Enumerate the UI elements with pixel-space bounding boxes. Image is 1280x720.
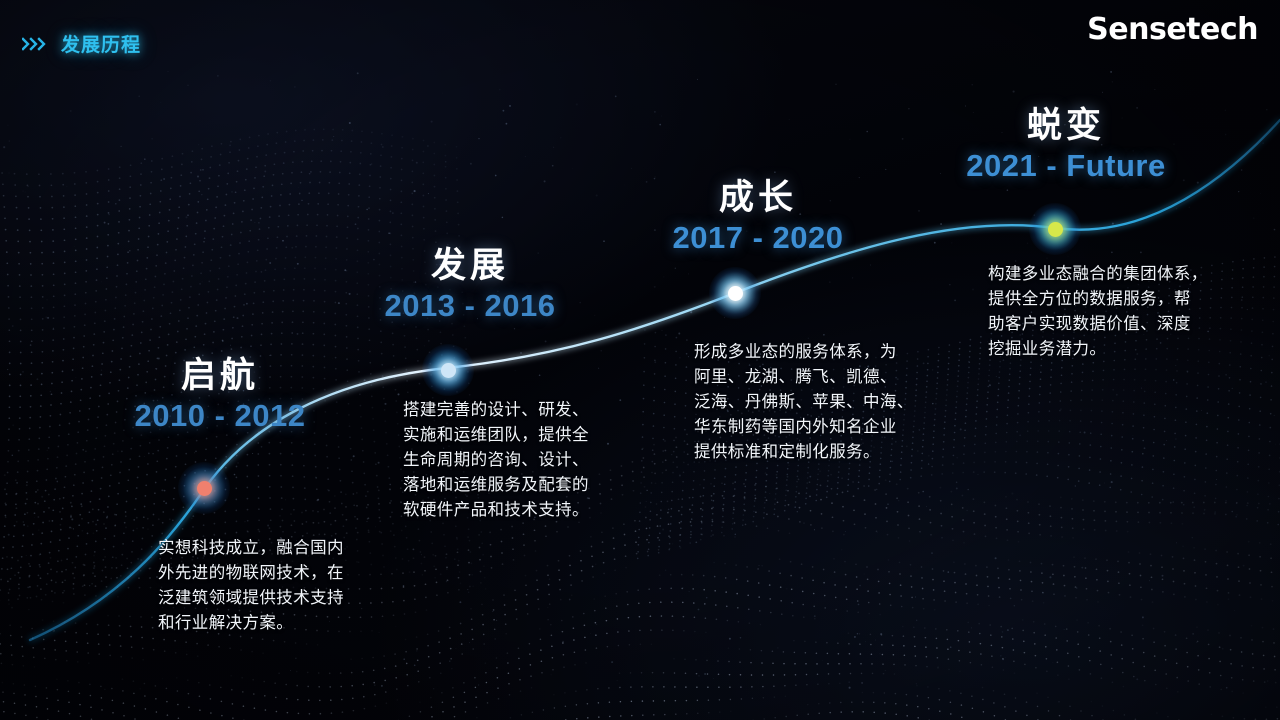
milestone-1-node[interactable] <box>178 462 230 514</box>
header-bar: 发展历程 Sensetech <box>0 0 1280 68</box>
milestone-3-description: 形成多业态的服务体系，为 阿里、龙湖、腾飞、凯德、 泛海、丹佛斯、苹果、中海、 … <box>694 340 974 465</box>
milestone-2-node[interactable] <box>422 344 474 396</box>
milestone-3-heading: 成长 2017 - 2020 <box>640 180 876 256</box>
milestone-3-title: 成长 <box>640 180 876 217</box>
brand-logo: Sensetech <box>1087 12 1258 47</box>
milestone-1-title: 启航 <box>110 358 330 395</box>
milestone-4-description: 构建多业态融合的集团体系， 提供全方位的数据服务，帮 助客户实现数据价值、深度 … <box>988 262 1256 362</box>
milestone-1-description: 实想科技成立，融合国内 外先进的物联网技术，在 泛建筑领域提供技术支持 和行业解… <box>158 536 420 636</box>
milestone-2-title: 发展 <box>352 248 588 285</box>
milestone-4-title: 蜕变 <box>948 108 1184 145</box>
milestone-2-description: 搭建完善的设计、研发、 实施和运维团队，提供全 生命周期的咨询、设计、 落地和运… <box>403 398 655 523</box>
page-title: 发展历程 <box>61 30 141 57</box>
milestone-4-year: 2021 - Future <box>948 147 1184 184</box>
milestone-1-year: 2010 - 2012 <box>110 397 330 434</box>
milestone-1-node-core <box>197 481 212 496</box>
milestone-3-node-core <box>728 286 743 301</box>
milestone-2-year: 2013 - 2016 <box>352 287 588 324</box>
milestone-4-node-core <box>1048 222 1063 237</box>
milestone-2-heading: 发展 2013 - 2016 <box>352 248 588 324</box>
section-tag: 发展历程 <box>22 30 141 57</box>
milestone-2-node-core <box>441 363 456 378</box>
milestone-4-heading: 蜕变 2021 - Future <box>948 108 1184 184</box>
milestone-1-heading: 启航 2010 - 2012 <box>110 358 330 434</box>
milestone-3-year: 2017 - 2020 <box>640 219 876 256</box>
milestone-4-node[interactable] <box>1029 203 1081 255</box>
triple-chevron-right-icon <box>22 37 52 51</box>
slide-root: 发展历程 Sensetech 启航 2010 - 2012 实想科技成立，融 <box>0 0 1280 720</box>
milestone-3-node[interactable] <box>709 267 761 319</box>
